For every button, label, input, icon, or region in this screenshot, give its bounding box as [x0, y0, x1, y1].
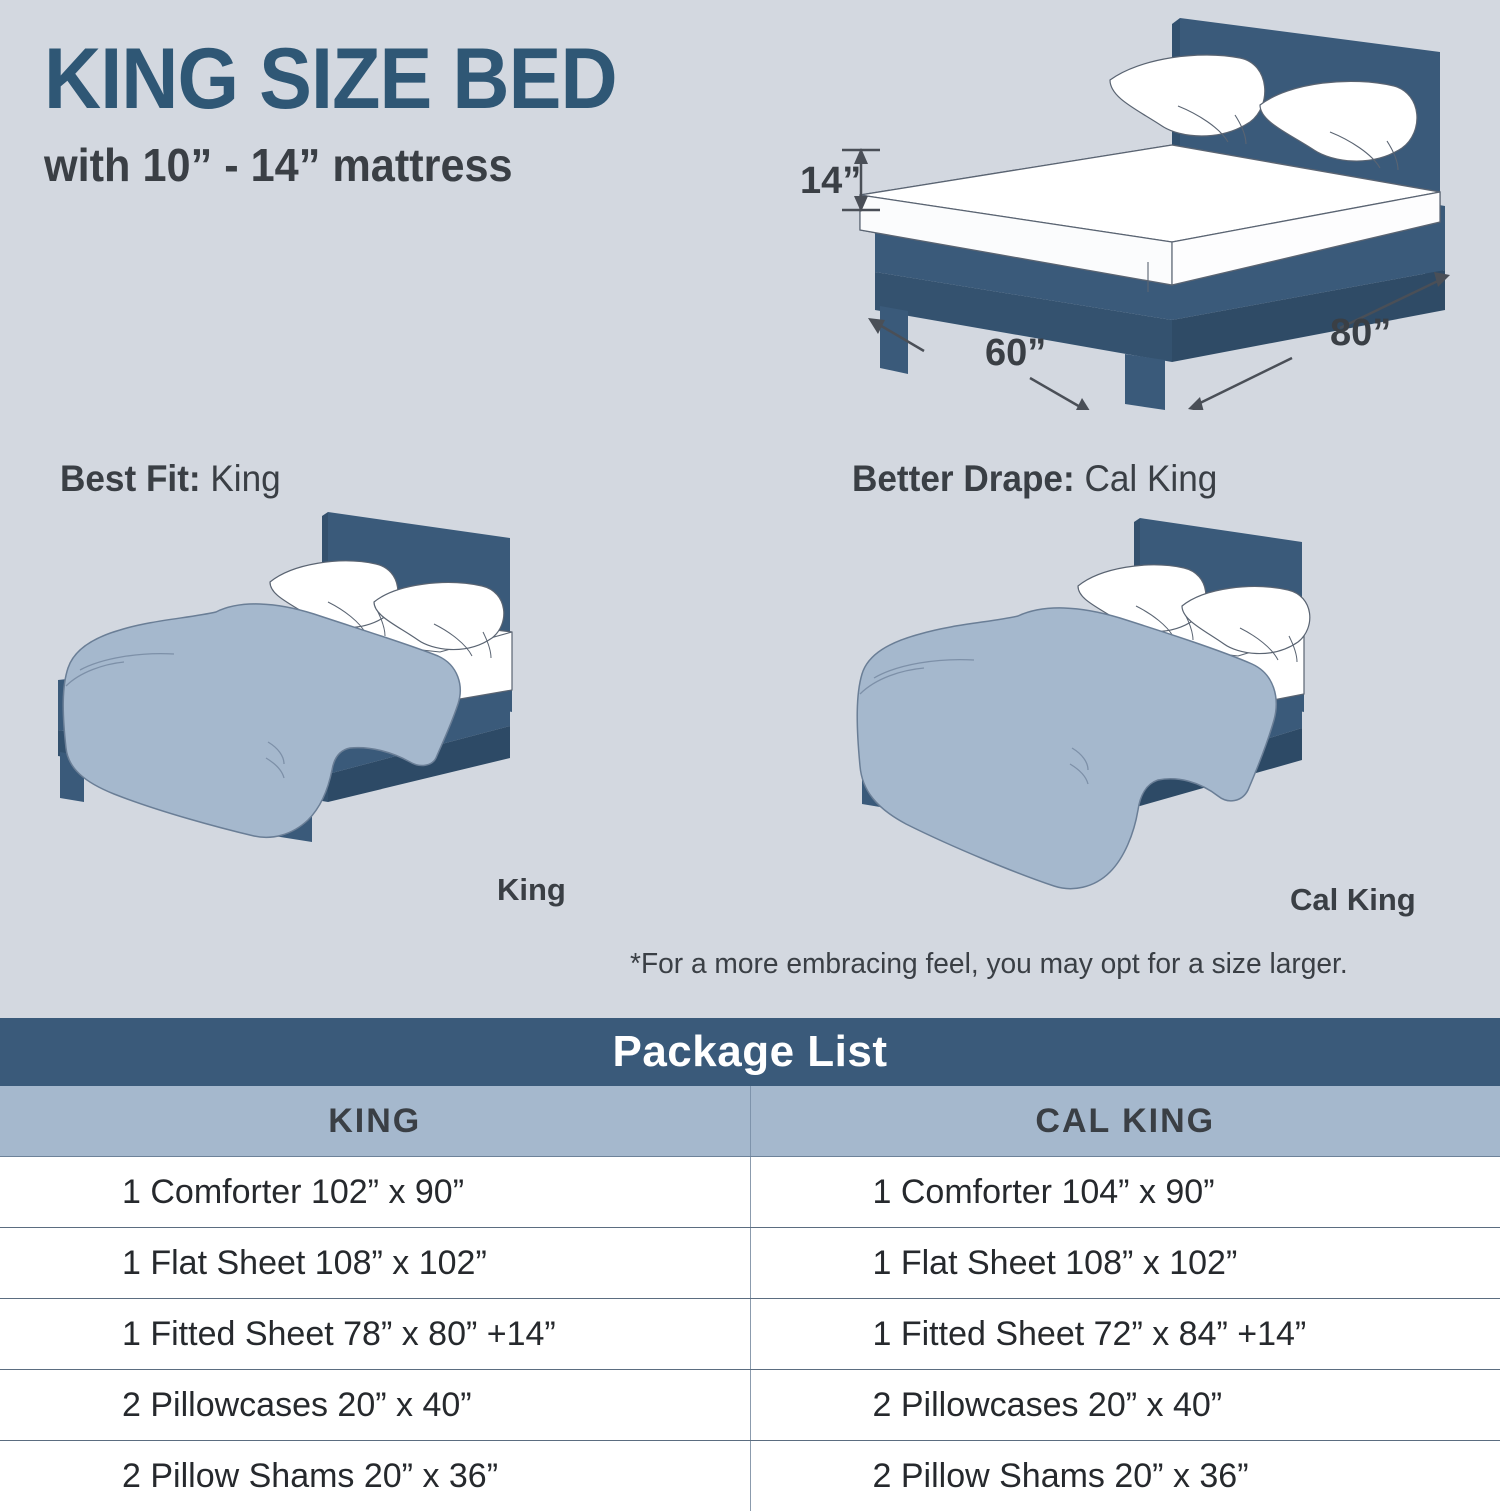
package-list-table: KING CAL KING 1 Comforter 102” x 90” 1 C… — [0, 1086, 1500, 1511]
hero-height-label: 14” — [800, 160, 861, 203]
infographic-root: KING SIZE BED with 10” - 14” mattress — [0, 0, 1500, 1500]
calking-bed-illustration — [840, 490, 1460, 900]
cell-calking-item: 1 Fitted Sheet 72” x 84” +14” — [750, 1299, 1500, 1370]
king-bed-illustration — [40, 490, 640, 890]
cell-king-item: 1 Flat Sheet 108” x 102” — [0, 1228, 750, 1299]
table-row: 1 Comforter 102” x 90” 1 Comforter 104” … — [0, 1157, 1500, 1228]
cell-king-item: 1 Comforter 102” x 90” — [0, 1157, 750, 1228]
cell-king-item: 2 Pillowcases 20” x 40” — [0, 1370, 750, 1441]
calking-caption: Cal King — [1290, 882, 1416, 918]
table-row: 2 Pillowcases 20” x 40” 2 Pillowcases 20… — [0, 1370, 1500, 1441]
cell-calking-item: 2 Pillow Shams 20” x 36” — [750, 1441, 1500, 1511]
table-row: 1 Fitted Sheet 78” x 80” +14” 1 Fitted S… — [0, 1299, 1500, 1370]
hero-length-label: 80” — [1330, 312, 1391, 355]
table-header-row: KING CAL KING — [0, 1086, 1500, 1157]
header-block: KING SIZE BED with 10” - 14” mattress — [44, 36, 824, 192]
cell-king-item: 1 Fitted Sheet 78” x 80” +14” — [0, 1299, 750, 1370]
package-list-section: Package List KING CAL KING 1 Comforter 1… — [0, 1018, 1500, 1511]
cell-king-item: 2 Pillow Shams 20” x 36” — [0, 1441, 750, 1511]
king-caption: King — [497, 872, 566, 908]
page-subtitle: with 10” - 14” mattress — [44, 138, 777, 192]
column-header-cal-king: CAL KING — [750, 1086, 1500, 1157]
column-header-king: KING — [0, 1086, 750, 1157]
cell-calking-item: 1 Comforter 104” x 90” — [750, 1157, 1500, 1228]
ck-comforter — [857, 608, 1276, 889]
cell-calking-item: 1 Flat Sheet 108” x 102” — [750, 1228, 1500, 1299]
cell-calking-item: 2 Pillowcases 20” x 40” — [750, 1370, 1500, 1441]
leg-front-center — [1125, 354, 1165, 410]
package-list-title: Package List — [0, 1018, 1500, 1086]
hero-width-label: 60” — [985, 332, 1046, 375]
footnote-text: *For a more embracing feel, you may opt … — [630, 948, 1348, 981]
page-title: KING SIZE BED — [44, 36, 762, 122]
table-row: 1 Flat Sheet 108” x 102” 1 Flat Sheet 10… — [0, 1228, 1500, 1299]
table-row: 2 Pillow Shams 20” x 36” 2 Pillow Shams … — [0, 1441, 1500, 1511]
pillow-left — [1110, 55, 1265, 136]
